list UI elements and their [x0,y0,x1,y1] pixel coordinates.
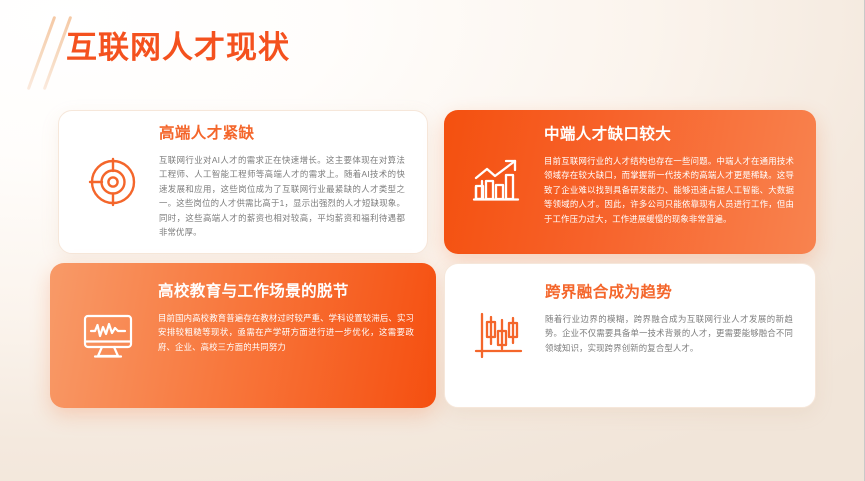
target-icon [59,155,159,209]
card-text: 随着行业边界的模糊，跨界融合成为互联网行业人才发展的新趋势。企业不仅需要具备单一… [545,312,793,355]
card-high-end-talent-shortage[interactable]: 高端人才紧缺 互联网行业对AI人才的需求正在快速增长。这主要体现在对算法工程师、… [58,110,428,254]
candlestick-chart-icon [445,310,545,362]
card-title: 中端人才缺口较大 [544,124,794,146]
card-mid-level-talent-gap[interactable]: 中端人才缺口较大 目前互联网行业的人才结构也存在一些问题。中端人才在通用技术领域… [444,110,816,254]
slide-root: 互联网人才现状 高端人才紧缺 互联网行业对AI人才的需求正在快速增长。这主要体现… [0,0,865,481]
page-title: 互联网人才现状 [66,26,290,70]
card-cross-domain-integration-trend[interactable]: 跨界融合成为趋势 随着行业边界的模糊，跨界融合成为互联网行业人才发展的新趋势。企… [444,263,816,408]
card-text: 目前互联网行业的人才结构也存在一些问题。中端人才在通用技术领域存在较大缺口，而掌… [544,154,794,226]
card-education-workplace-disconnect[interactable]: 高校教育与工作场景的脱节 目前国内高校教育普遍存在教材过时较严重、学科设置较滞后… [50,263,436,408]
card-text: 目前国内高校教育普遍存在教材过时较严重、学科设置较滞后、实习安排较粗糙等现状，亟… [158,311,414,354]
card-title: 高校教育与工作场景的脱节 [158,281,414,303]
card-text: 互联网行业对AI人才的需求正在快速增长。这主要体现在对算法工程师、人工智能工程师… [159,153,405,239]
growth-chart-icon [444,156,544,208]
card-title: 跨界融合成为趋势 [545,282,793,304]
card-title: 高端人才紧缺 [159,123,405,145]
monitor-ecg-icon [50,311,158,361]
